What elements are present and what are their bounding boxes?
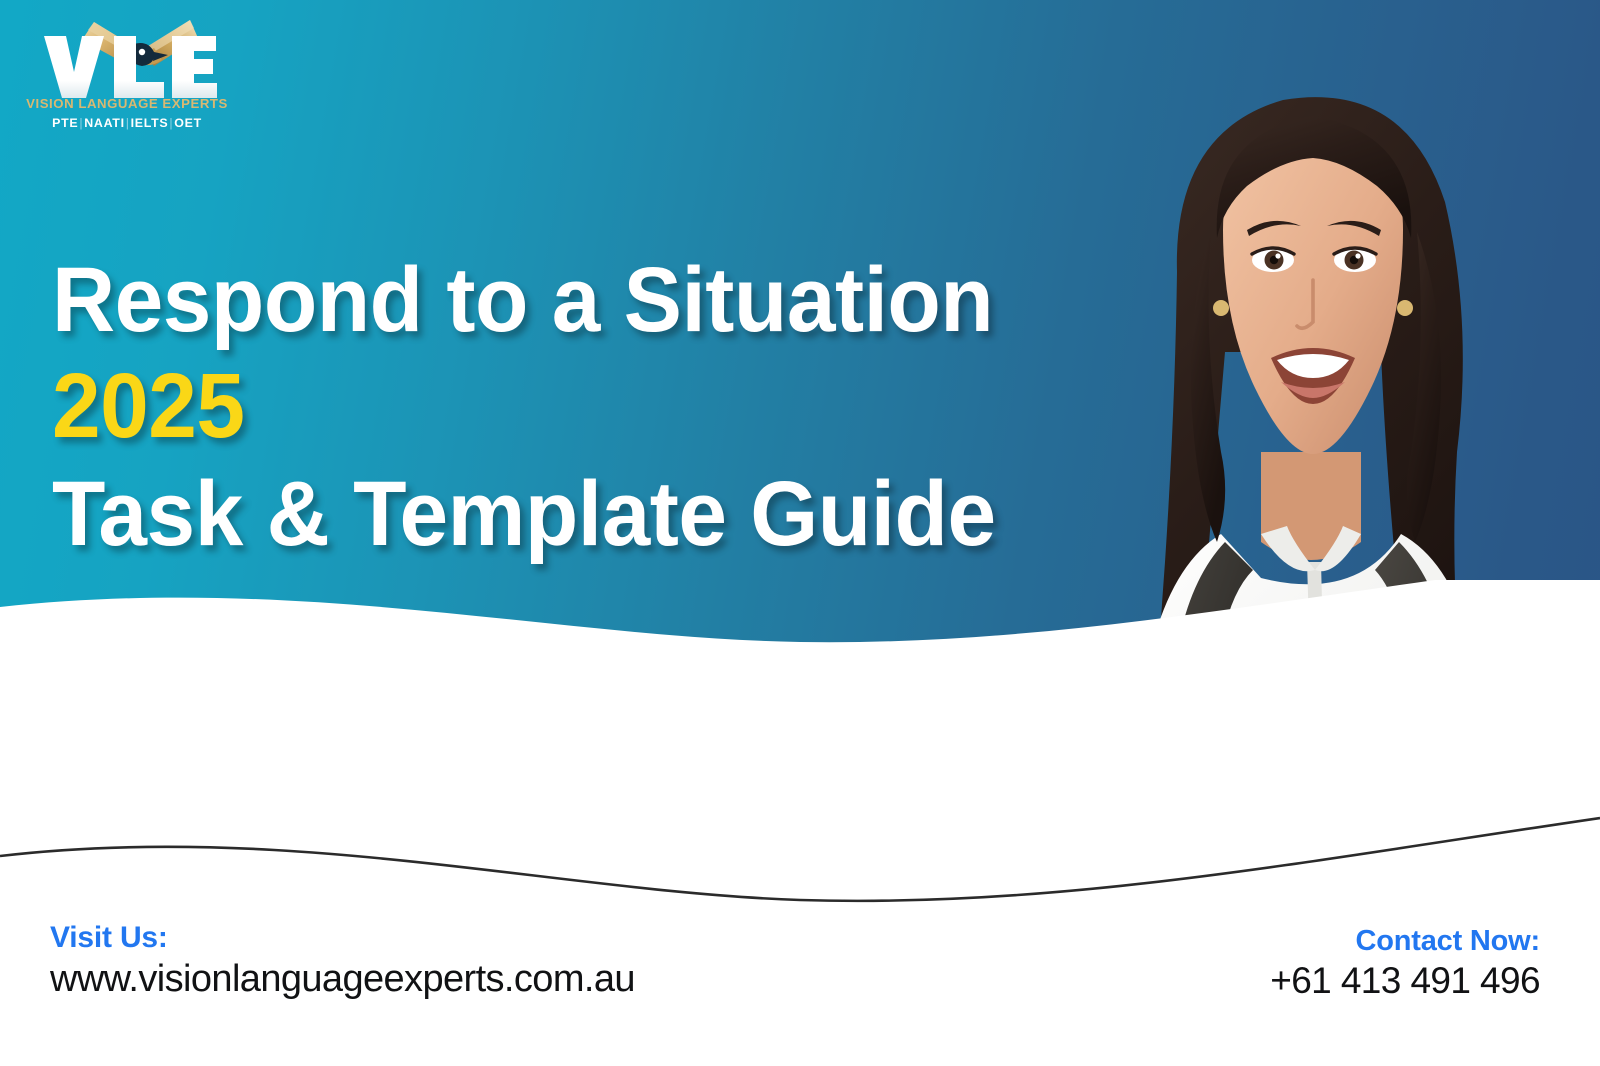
headline-year: 2025 — [52, 354, 1059, 458]
footer-section: Visit Us: www.visionlanguageexperts.com.… — [0, 880, 1600, 1066]
promo-banner: VISION LANGUAGE EXPERTS PTE|NAATI|IELTS|… — [0, 0, 1600, 1066]
visit-us-block: Visit Us: www.visionlanguageexperts.com.… — [50, 920, 635, 1002]
headline-line-3: Task & Template Guide — [52, 462, 1059, 566]
logo-exam-list: PTE|NAATI|IELTS|OET — [22, 116, 232, 130]
visit-us-label: Visit Us: — [50, 920, 635, 956]
student-photo — [1025, 22, 1600, 880]
exam-pte: PTE — [52, 116, 78, 130]
contact-block: Contact Now: +61 413 491 496 — [1270, 924, 1540, 1003]
phone-number[interactable]: +61 413 491 496 — [1270, 958, 1540, 1003]
exam-oet: OET — [174, 116, 202, 130]
headline-block: Respond to a Situation 2025 Task & Templ… — [52, 248, 1112, 566]
logo-tagline: VISION LANGUAGE EXPERTS — [22, 96, 232, 111]
contact-now-label: Contact Now: — [1270, 924, 1540, 958]
headline-line-1: Respond to a Situation — [52, 248, 1059, 352]
website-link[interactable]: www.visionlanguageexperts.com.au — [50, 956, 635, 1002]
exam-naati: NAATI — [84, 116, 124, 130]
logo-mark-icon — [22, 6, 232, 102]
hero-section: VISION LANGUAGE EXPERTS PTE|NAATI|IELTS|… — [0, 0, 1600, 880]
exam-ielts: IELTS — [131, 116, 169, 130]
brand-logo[interactable]: VISION LANGUAGE EXPERTS PTE|NAATI|IELTS|… — [22, 6, 232, 138]
student-illustration-icon — [1025, 22, 1600, 880]
